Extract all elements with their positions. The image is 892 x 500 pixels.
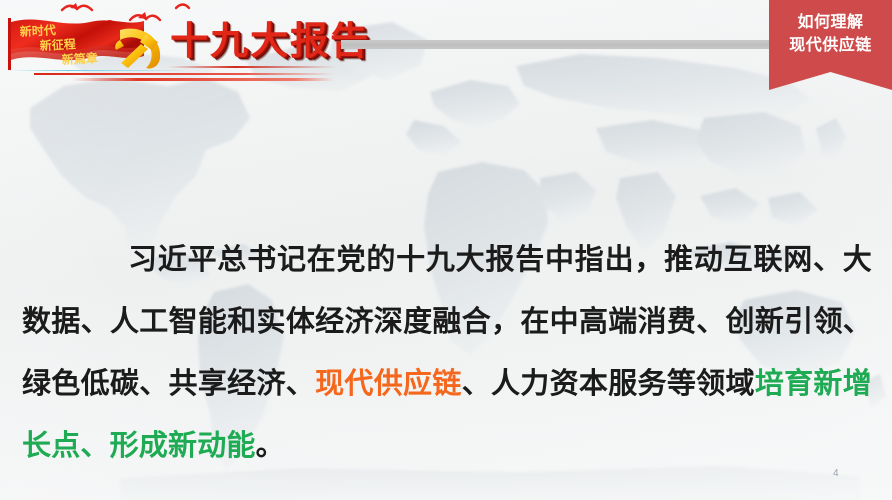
flag-slogan-line-1: 新时代: [19, 22, 56, 39]
ribbon-line-2: 现代供应链: [789, 34, 872, 57]
flag-slogan-line-3: 新篇章: [61, 50, 98, 67]
ribbon-line-1: 如何理解: [797, 11, 863, 34]
cpc-hammer-sickle-emblem-icon: [108, 22, 170, 74]
paragraph-segment-2: 、人力资本服务等领域: [462, 366, 755, 400]
page-title: 十九大报告: [170, 22, 370, 60]
header-red-rule-top: [168, 66, 336, 68]
page-number: 4: [833, 468, 839, 479]
header-blue-rule: [8, 70, 184, 71]
slide-header: 新时代 新征程 新篇章: [0, 0, 892, 92]
flag-slogan-line-2: 新征程: [39, 36, 76, 53]
header-gray-bar: [341, 40, 771, 49]
paragraph-segment-1: 现代供应链: [315, 366, 462, 400]
slide-canvas: 新时代 新征程 新篇章: [0, 0, 892, 500]
header-red-rule-mid: [34, 73, 334, 75]
paragraph-segments: 习近平总书记在党的十九大报告中指出，推动互联网、大数据、人工智能和实体经济深度融…: [22, 242, 872, 462]
paragraph-segment-4: 。: [256, 428, 285, 462]
header-red-rule-low: [72, 78, 334, 81]
body-paragraph: 习近平总书记在党的十九大报告中指出，推动互联网、大数据、人工智能和实体经济深度融…: [22, 166, 872, 500]
